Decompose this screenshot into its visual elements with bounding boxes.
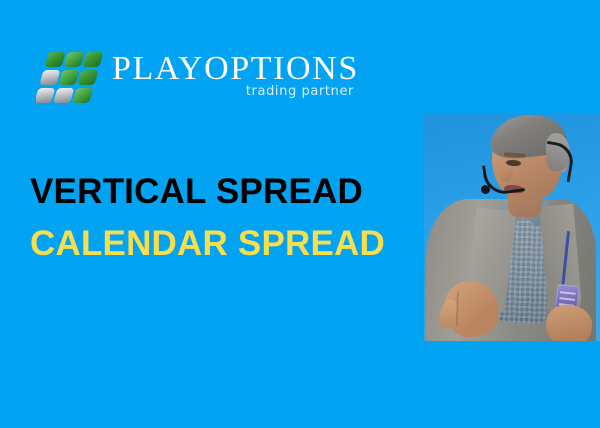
headline-vertical-spread: VERTICAL SPREAD: [30, 166, 430, 218]
playoptions-logo[interactable]: PLAYOPTIONS trading partner: [36, 48, 356, 110]
headline-calendar-spread: CALENDAR SPREAD: [30, 218, 430, 270]
logo-wordmark-text: PLAYOPTIONS: [112, 50, 359, 88]
badge-line: [560, 291, 576, 295]
headset-mic-capsule-icon: [481, 185, 490, 194]
headline-block: VERTICAL SPREAD CALENDAR SPREAD: [30, 166, 430, 270]
badge-line: [559, 297, 575, 301]
playoptions-tile-grid-mark-icon: [36, 51, 106, 107]
playoptions-wordmark: PLAYOPTIONS trading partner: [112, 48, 356, 110]
logo-tagline-text: trading partner: [246, 84, 354, 100]
slide-canvas: PLAYOPTIONS trading partner VERTICAL SPR…: [0, 0, 600, 428]
speaker-photo: [424, 113, 600, 341]
